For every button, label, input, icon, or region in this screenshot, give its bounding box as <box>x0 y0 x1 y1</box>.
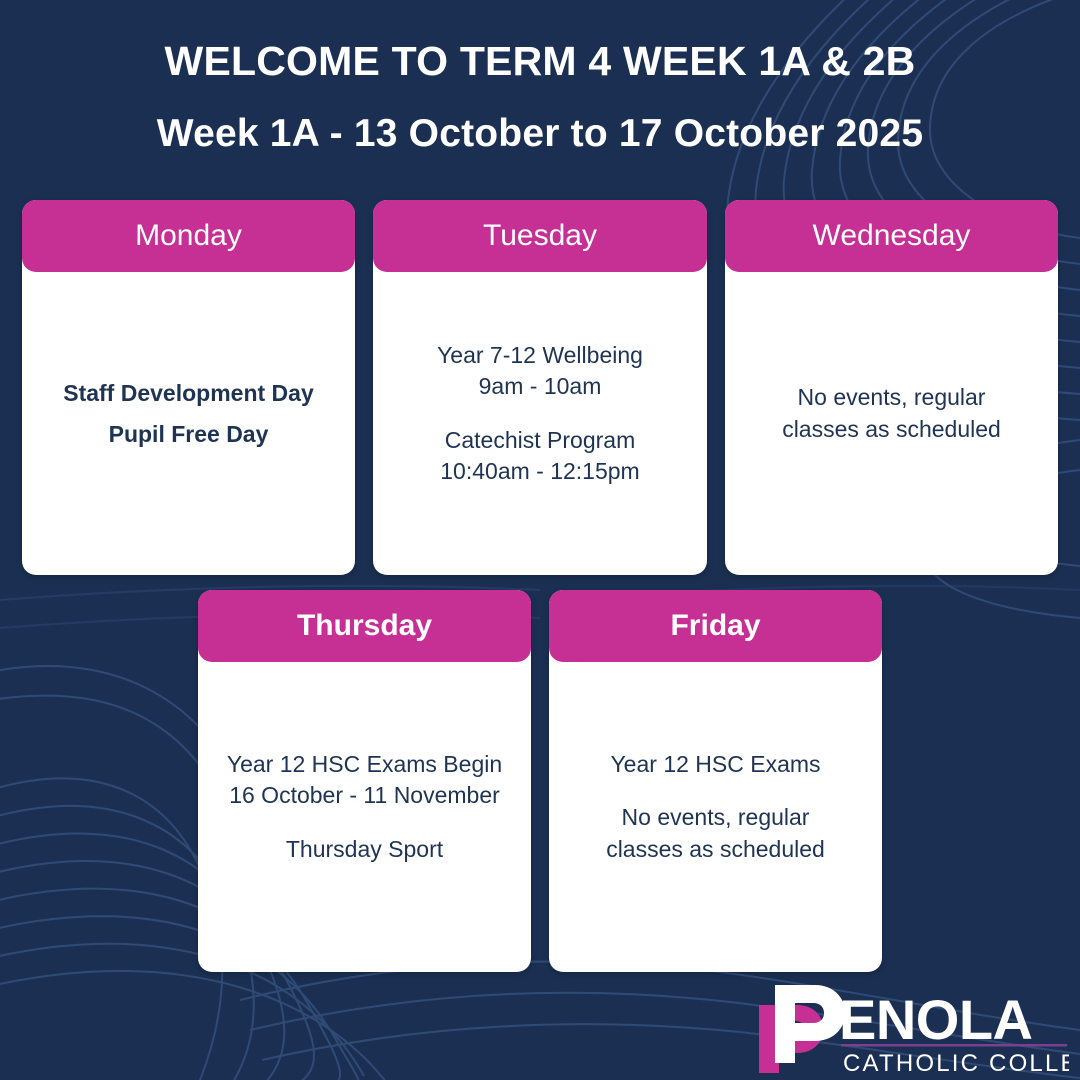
weekly-schedule-poster: WELCOME TO TERM 4 WEEK 1A & 2B Week 1A -… <box>0 0 1080 1080</box>
day-body-friday: Year 12 HSC Exams No events, regular cla… <box>549 662 882 972</box>
event-paragraph: No events, regular classes as scheduled <box>743 382 1040 444</box>
logo-wordmark: ENOLA <box>839 988 1033 1051</box>
day-body-tuesday: Year 7-12 Wellbeing 9am - 10am Catechist… <box>373 272 707 575</box>
logo-underline <box>841 1044 1067 1047</box>
page-title: WELCOME TO TERM 4 WEEK 1A & 2B <box>0 36 1080 86</box>
day-header-wednesday: Wednesday <box>725 200 1058 272</box>
event-paragraph: Staff Development Day Pupil Free Day <box>40 373 337 454</box>
day-header-monday: Monday <box>22 200 355 272</box>
event-paragraph: Year 7-12 Wellbeing 9am - 10am <box>391 340 689 402</box>
event-paragraph: No events, regular classes as scheduled <box>567 802 864 864</box>
event-line: No events, regular <box>622 804 810 830</box>
page-subtitle: Week 1A - 13 October to 17 October 2025 <box>0 110 1080 158</box>
event-line: Year 12 HSC Exams <box>610 751 820 777</box>
day-header-thursday: Thursday <box>198 590 531 662</box>
day-header-friday: Friday <box>549 590 882 662</box>
event-line: 9am - 10am <box>479 373 602 399</box>
day-card-wednesday[interactable]: Wednesday No events, regular classes as … <box>725 200 1058 575</box>
event-line: classes as scheduled <box>606 836 825 862</box>
event-line: No events, regular <box>798 384 986 410</box>
day-card-friday[interactable]: Friday Year 12 HSC Exams No events, regu… <box>549 590 882 972</box>
event-line: Staff Development Day <box>63 380 314 406</box>
day-card-monday[interactable]: Monday Staff Development Day Pupil Free … <box>22 200 355 575</box>
event-line: 16 October - 11 November <box>229 782 500 808</box>
event-line: 10:40am - 12:15pm <box>440 458 639 484</box>
event-line: Catechist Program <box>445 427 635 453</box>
event-line: Year 7-12 Wellbeing <box>437 342 643 368</box>
logo-tagline: CATHOLIC COLLEGE <box>843 1050 1069 1075</box>
event-line: Thursday Sport <box>286 836 443 862</box>
event-paragraph: Year 12 HSC Exams <box>567 749 864 780</box>
poster-header: WELCOME TO TERM 4 WEEK 1A & 2B Week 1A -… <box>0 0 1080 158</box>
event-line: classes as scheduled <box>782 416 1001 442</box>
event-paragraph: Year 12 HSC Exams Begin 16 October - 11 … <box>216 749 513 811</box>
day-card-thursday[interactable]: Thursday Year 12 HSC Exams Begin 16 Octo… <box>198 590 531 972</box>
day-body-thursday: Year 12 HSC Exams Begin 16 October - 11 … <box>198 662 531 972</box>
penola-catholic-college-logo: ENOLA CATHOLIC COLLEGE <box>757 983 1069 1075</box>
event-line: Year 12 HSC Exams Begin <box>227 751 502 777</box>
day-body-monday: Staff Development Day Pupil Free Day <box>22 272 355 575</box>
day-header-tuesday: Tuesday <box>373 200 707 272</box>
day-body-wednesday: No events, regular classes as scheduled <box>725 272 1058 575</box>
event-line: Pupil Free Day <box>109 421 269 447</box>
logo-p-monogram-white <box>775 985 845 1063</box>
day-card-tuesday[interactable]: Tuesday Year 7-12 Wellbeing 9am - 10am C… <box>373 200 707 575</box>
event-paragraph: Thursday Sport <box>216 834 513 865</box>
event-paragraph: Catechist Program 10:40am - 12:15pm <box>391 425 689 487</box>
